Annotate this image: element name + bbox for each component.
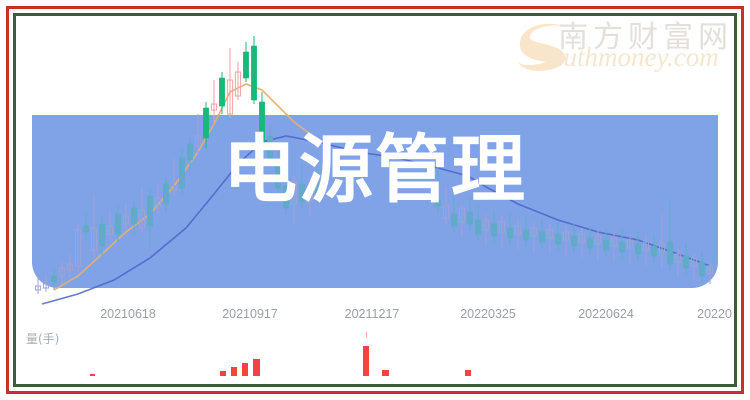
volume-bar [465, 370, 471, 376]
volume-bar [90, 374, 95, 376]
x-axis-tick-label: 20220624 [578, 307, 634, 321]
x-axis-tick-label: 20210618 [100, 307, 156, 321]
x-axis-tick-label: 202209 [697, 307, 732, 321]
volume-bar [363, 346, 369, 376]
volume-bar [253, 359, 260, 376]
x-axis-tick-label: 20211217 [345, 307, 400, 321]
x-axis-tick-label: 20210917 [222, 307, 278, 321]
volume-bar [382, 370, 389, 376]
x-axis-tick-label: 20220325 [460, 307, 516, 321]
volume-bar [220, 371, 226, 376]
x-axis-labels: 2021061820210917202112172022032520220624… [18, 307, 732, 329]
volume-bar [231, 367, 237, 376]
screenshot-root: 2021061820210917202112172022032520220624… [0, 0, 750, 400]
volume-bar [242, 363, 248, 376]
volume-wick [366, 332, 367, 338]
candlestick-plot [18, 18, 732, 318]
volume-bars [18, 330, 732, 382]
volume-pane: 量(手) [18, 330, 732, 382]
stock-chart[interactable]: 2021061820210917202112172022032520220624… [18, 18, 732, 382]
